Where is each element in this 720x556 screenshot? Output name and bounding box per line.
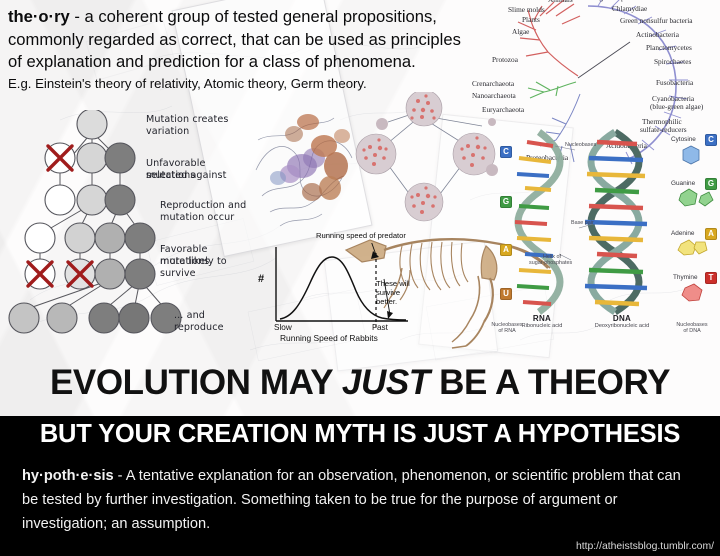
ns-label-mutation-occur: mutation occur bbox=[160, 212, 234, 224]
credit-url[interactable]: http://atheistsblog.tumblr.com/ bbox=[576, 541, 714, 552]
ns-label-and-reproduce: ... and reproduce bbox=[174, 310, 249, 333]
hypothesis-term: hy·poth·e·sis bbox=[22, 468, 114, 484]
headline-band: EVOLUTION MAY JUST BE A THEORY bbox=[0, 350, 720, 416]
theory-definition-line-4: E.g. Einstein's theory of relativity, At… bbox=[8, 74, 532, 94]
base-label-thymine: Thymine bbox=[673, 274, 698, 281]
chart-annotation-survive: These will survive better. bbox=[376, 279, 418, 306]
natural-selection-diagram: Mutation creates variation Unfavorable m… bbox=[4, 110, 249, 345]
rna-helix bbox=[515, 132, 560, 312]
theory-definition-line-3: of explanation and prediction for a clas… bbox=[8, 51, 532, 74]
ns-label-variation: variation bbox=[146, 126, 189, 138]
base-chip-a: A bbox=[705, 228, 717, 240]
base-chip-t: T bbox=[705, 272, 717, 284]
theory-definition-line-1: the·o·ry - a coherent group of tested ge… bbox=[8, 6, 532, 29]
theory-line-1-text: - a coherent group of tested general pro… bbox=[70, 7, 437, 26]
hypothesis-line-1: - A tentative explanation for an observa… bbox=[114, 468, 508, 484]
headline-text: EVOLUTION MAY JUST BE A THEORY bbox=[50, 363, 670, 403]
ns-label-reproduction: Reproduction and bbox=[160, 200, 246, 212]
dna-inline-label-helix-b: sugar-phosphates bbox=[529, 260, 572, 266]
dna-subtitle: Deoxyribonucleic acid bbox=[583, 323, 661, 329]
ns-label-mutation-creates: Mutation creates bbox=[146, 114, 228, 126]
base-label-cytosine: Cytosine bbox=[671, 136, 696, 143]
headline-emphasis-just: JUST bbox=[342, 363, 430, 402]
meme-poster: Animals Fungi Slime molds Plants Algae P… bbox=[0, 0, 720, 556]
hypothesis-banner: BUT YOUR CREATION MYTH IS JUST A HYPOTHE… bbox=[0, 416, 720, 556]
base-chip-g: G bbox=[705, 178, 717, 190]
subheadline-text: BUT YOUR CREATION MYTH IS JUST A HYPOTHE… bbox=[0, 420, 720, 449]
dna-base-caption-b: of DNA bbox=[665, 328, 719, 334]
tree-label-gram-positives: Gram-positives bbox=[602, 0, 647, 2]
dna-caption: DNA Deoxyribonucleic acid bbox=[583, 314, 661, 329]
tree-label-chlamydiae: Chlamydiae bbox=[612, 5, 647, 13]
tree-label-cyanobacteria-alt: (blue-green algae) bbox=[650, 103, 703, 111]
chart-xtick-fast: Fast bbox=[372, 323, 388, 332]
hypothesis-term-wrap: hy·poth·e·sis - A tentative explanation … bbox=[22, 468, 508, 484]
rna-base-chip-c: C bbox=[500, 146, 512, 158]
headline-part-2: BE A THEORY bbox=[430, 363, 670, 402]
chart-xtick-slow: Slow bbox=[274, 323, 292, 332]
rna-base-chip-a: A bbox=[500, 244, 512, 256]
tree-label-green-nonsulfur: Green nonsulfur bacteria bbox=[620, 17, 693, 25]
chart-ylabel: # bbox=[258, 273, 264, 285]
tree-label-planctomycetes: Planctomycetes bbox=[646, 44, 692, 52]
dna-inline-label-base-pair: Base pair bbox=[571, 220, 594, 226]
dna-inline-label-nucleobases: Nucleobases bbox=[565, 142, 596, 148]
base-label-guanine: Guanine bbox=[671, 180, 695, 187]
rabbit-speed-distribution-chart: # Slow Fast Running Speed of Rabbits Run… bbox=[258, 243, 418, 343]
theory-term: the·o·ry bbox=[8, 7, 70, 26]
rna-base-chip-u: U bbox=[500, 288, 512, 300]
dna-name: DNA bbox=[583, 314, 661, 323]
ns-label-selected-against: selected against bbox=[146, 170, 227, 182]
virus-particle-diagram bbox=[352, 92, 522, 222]
theory-definition-line-2: commonly regarded as correct, that can b… bbox=[8, 29, 532, 52]
dna-double-helix bbox=[585, 132, 647, 312]
base-chip-c: C bbox=[705, 134, 717, 146]
rna-base-caption-b: of RNA bbox=[480, 328, 534, 334]
headline-part-1: EVOLUTION MAY bbox=[50, 363, 342, 402]
tree-label-actinobacteria: Actinobacteria bbox=[636, 31, 679, 39]
tree-label-spirochaetes: Spirochaetes bbox=[654, 58, 691, 66]
chart-annotation-predator: Running speed of predator bbox=[316, 231, 406, 240]
chart-xlabel: Running Speed of Rabbits bbox=[280, 333, 378, 343]
theory-definition-block: the·o·ry - a coherent group of tested ge… bbox=[8, 6, 532, 94]
hypothesis-definition-block: hy·poth·e·sis - A tentative explanation … bbox=[22, 464, 682, 536]
dna-rna-diagram: Nucleobases Base pair Helix of sugar-pho… bbox=[505, 128, 720, 346]
tree-label-fusobacteria: Fusobacteria bbox=[656, 79, 693, 87]
rna-base-chip-g: G bbox=[500, 196, 512, 208]
tree-label-animals: Animals bbox=[548, 0, 573, 4]
base-label-adenine: Adenine bbox=[671, 230, 694, 237]
ns-label-more-likely-survive: more likely to survive bbox=[160, 256, 249, 279]
